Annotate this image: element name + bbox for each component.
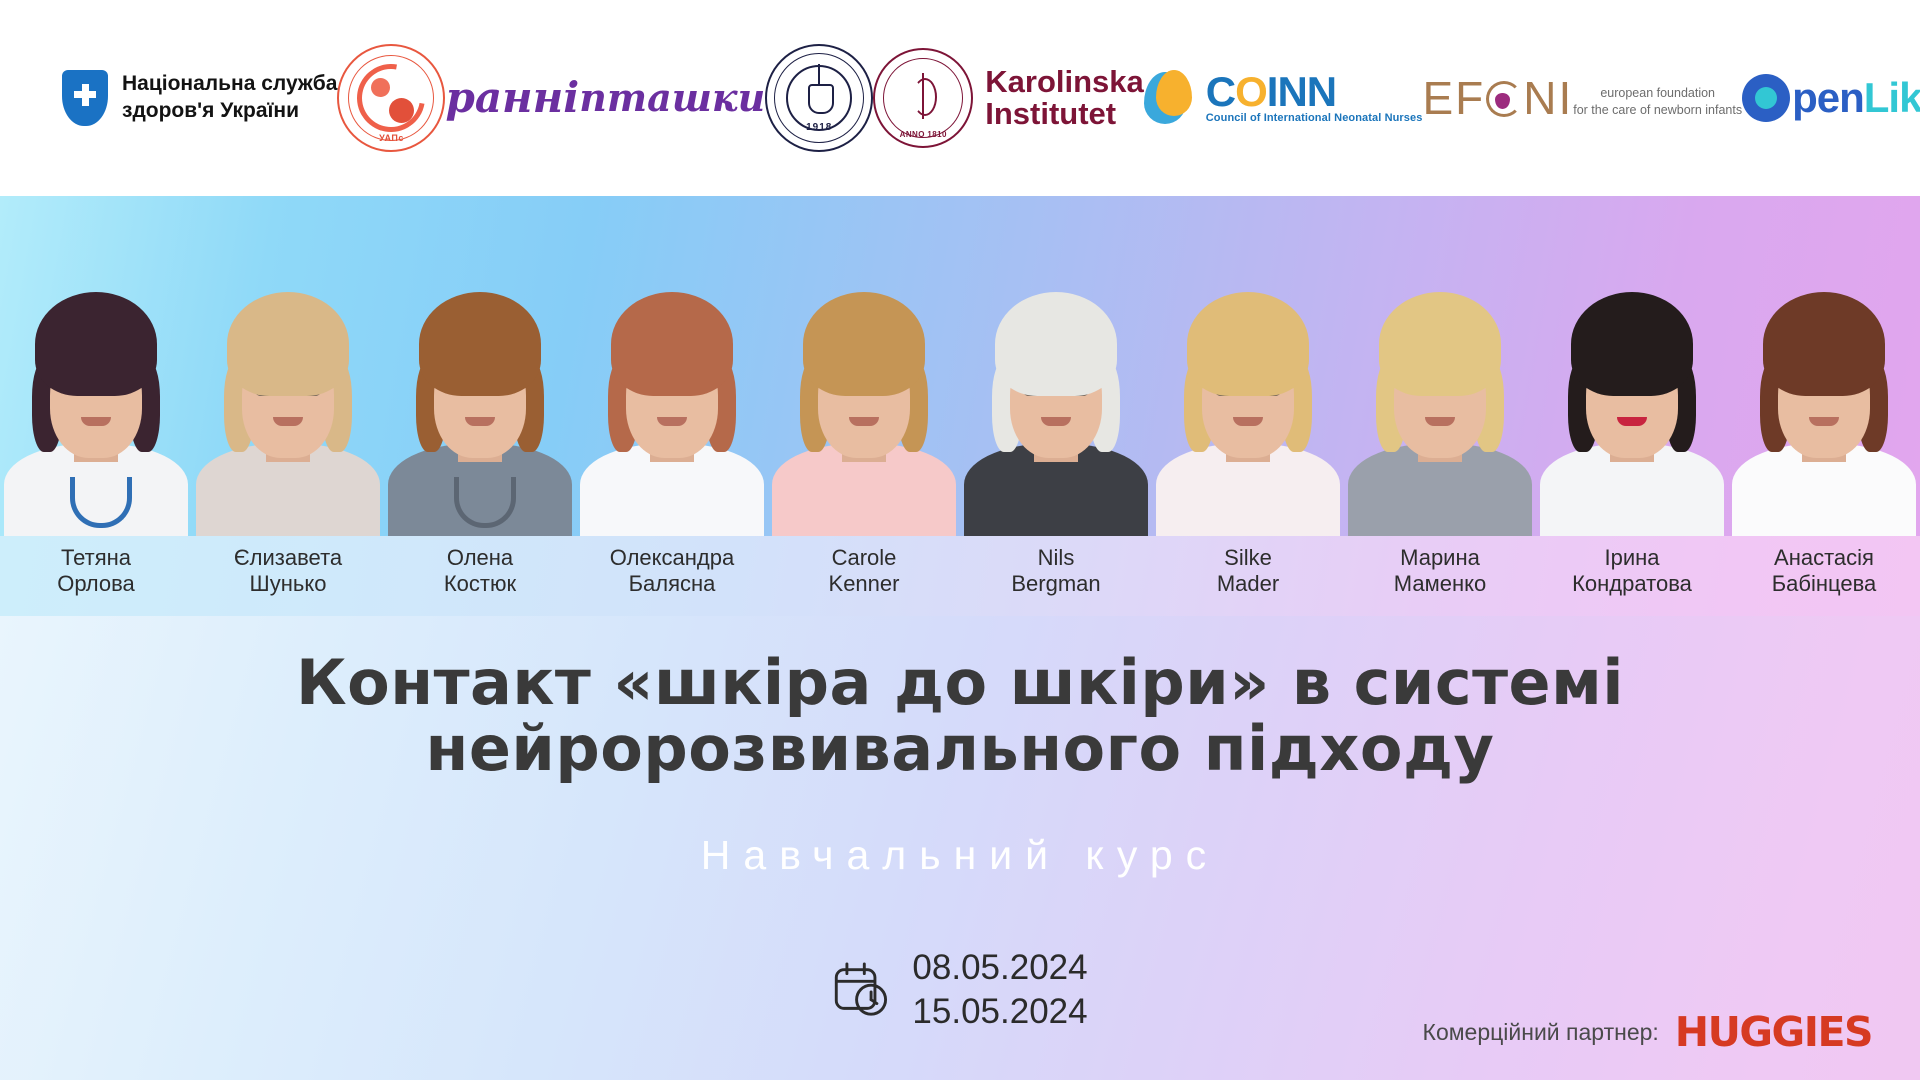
coinn-egg-gold bbox=[1156, 70, 1192, 116]
speaker-name: Олена Костюк bbox=[384, 536, 576, 616]
course-date-list: 08.05.2024 15.05.2024 bbox=[912, 946, 1087, 1034]
karolinska-anno-label: ANNO 1810 bbox=[875, 130, 971, 139]
speaker-photo bbox=[1152, 196, 1344, 536]
speaker-photo bbox=[1344, 196, 1536, 536]
speaker-name: Тетяна Орлова bbox=[0, 536, 192, 616]
logo-coinn[interactable]: COINN Council of International Neonatal … bbox=[1144, 70, 1423, 126]
speaker-name: Carole Kenner bbox=[768, 536, 960, 616]
logo-ranni-ptashky[interactable]: ранні пташки bbox=[445, 79, 765, 117]
efcni-c-baby-icon bbox=[1486, 81, 1522, 117]
coinn-globe-icon: O bbox=[1235, 68, 1267, 115]
speaker-first-name: Carole bbox=[768, 545, 960, 571]
speaker-name: Олександра Балясна bbox=[576, 536, 768, 616]
logo-nszu-line2: здоров'я України bbox=[122, 98, 337, 125]
page-subtitle: Навчальний курс bbox=[0, 832, 1920, 879]
efcni-wordmark: EFNI bbox=[1422, 75, 1573, 121]
efcni-prefix: EF bbox=[1422, 72, 1485, 124]
course-date-1: 08.05.2024 bbox=[912, 946, 1087, 990]
speaker-name: Марина Маменко bbox=[1344, 536, 1536, 616]
speaker-hair bbox=[1379, 292, 1501, 396]
speaker-hair bbox=[995, 292, 1117, 396]
speaker-last-name: Bergman bbox=[960, 571, 1152, 597]
speaker-name: Silke Mader bbox=[1152, 536, 1344, 616]
speaker-mouth bbox=[1425, 417, 1455, 426]
course-date-2: 15.05.2024 bbox=[912, 990, 1087, 1034]
openlikar-o-icon bbox=[1742, 74, 1790, 122]
karolinska-wordmark: Karolinska Institutet bbox=[985, 66, 1144, 130]
efcni-sub-line2: for the care of newborn infants bbox=[1573, 102, 1742, 119]
speaker-photo bbox=[0, 196, 192, 536]
speaker-last-name: Кондратова bbox=[1536, 571, 1728, 597]
huggies-logo[interactable]: HUGGIES bbox=[1675, 1012, 1872, 1053]
logo-efcni[interactable]: EFNI european foundation for the care of… bbox=[1422, 75, 1742, 121]
logo-uaps[interactable]: УАПс bbox=[337, 44, 445, 152]
logo-nszu-text: Національна служба здоров'я України bbox=[122, 71, 337, 125]
speaker-names-row: Тетяна Орлова Єлизавета Шунько Олена Кос… bbox=[0, 536, 1920, 616]
univ-trident-icon bbox=[818, 64, 820, 86]
speaker-first-name: Тетяна bbox=[0, 545, 192, 571]
openlikar-part2: Likar bbox=[1864, 74, 1920, 121]
calendar-clock-icon bbox=[832, 961, 890, 1019]
karolinska-line1: Karolinska bbox=[985, 66, 1144, 98]
coinn-eggs-icon bbox=[1144, 70, 1200, 126]
univ-bowl-icon bbox=[808, 84, 834, 114]
speaker-name: Анастасія Бабінцева bbox=[1728, 536, 1920, 616]
page-title: Контакт «шкіра до шкіри» в системі нейро… bbox=[0, 650, 1920, 781]
speaker-photo bbox=[384, 196, 576, 536]
efcni-sub-line1: european foundation bbox=[1573, 85, 1742, 102]
logo-openlikar[interactable]: penLikar bbox=[1742, 74, 1920, 122]
speaker-name: Nils Bergman bbox=[960, 536, 1152, 616]
speaker-mouth bbox=[1617, 417, 1647, 426]
page-title-line2: нейророзвивального підходу bbox=[0, 716, 1920, 782]
speaker-photo bbox=[768, 196, 960, 536]
coinn-wordmark: COINN bbox=[1206, 72, 1423, 112]
speaker-mouth bbox=[1041, 417, 1071, 426]
speaker-mouth bbox=[81, 417, 111, 426]
karolinska-line2: Institutet bbox=[985, 98, 1144, 130]
speaker-name: Ірина Кондратова bbox=[1536, 536, 1728, 616]
speaker-first-name: Nils bbox=[960, 545, 1152, 571]
speaker-hair bbox=[227, 292, 349, 396]
commercial-partner: Комерційний партнер: HUGGIES bbox=[1423, 1012, 1872, 1053]
logo-nszu[interactable]: Національна служба здоров'я України bbox=[62, 70, 337, 126]
speaker-photo bbox=[1728, 196, 1920, 536]
speaker-hair bbox=[1763, 292, 1885, 396]
uaps-swoosh-icon bbox=[344, 51, 439, 146]
karolinska-seal-icon: ANNO 1810 bbox=[873, 48, 973, 148]
course-info-panel: Контакт «шкіра до шкіри» в системі нейро… bbox=[0, 616, 1920, 1080]
speaker-last-name: Шунько bbox=[192, 571, 384, 597]
coinn-letters-inn: INN bbox=[1267, 68, 1336, 115]
speaker-first-name: Олена bbox=[384, 545, 576, 571]
speaker-mouth bbox=[657, 417, 687, 426]
speaker-last-name: Kenner bbox=[768, 571, 960, 597]
partner-logo-bar: Національна служба здоров'я України УАПс… bbox=[0, 0, 1920, 196]
speaker-hair bbox=[419, 292, 541, 396]
commercial-partner-label: Комерційний партнер: bbox=[1423, 1019, 1659, 1046]
efcni-subtitle: european foundation for the care of newb… bbox=[1573, 85, 1742, 119]
speaker-first-name: Єлизавета bbox=[192, 545, 384, 571]
univ-year-label: 1918 bbox=[767, 122, 871, 133]
speaker-photo bbox=[576, 196, 768, 536]
speaker-name: Єлизавета Шунько bbox=[192, 536, 384, 616]
speaker-last-name: Костюк bbox=[384, 571, 576, 597]
speaker-mouth bbox=[465, 417, 495, 426]
page-title-line1: Контакт «шкіра до шкіри» в системі bbox=[0, 650, 1920, 716]
coinn-subtitle: Council of International Neonatal Nurses bbox=[1206, 112, 1423, 124]
ranni-line2: пташки bbox=[579, 81, 765, 115]
coinn-text-block: COINN Council of International Neonatal … bbox=[1206, 72, 1423, 125]
speakers-photo-banner bbox=[0, 196, 1920, 536]
coinn-letter-c: C bbox=[1206, 68, 1235, 115]
speaker-mouth bbox=[1809, 417, 1839, 426]
speaker-last-name: Бабінцева bbox=[1728, 571, 1920, 597]
speaker-hair bbox=[1187, 292, 1309, 396]
speaker-mouth bbox=[273, 417, 303, 426]
shield-cross-icon bbox=[62, 70, 108, 126]
uaps-seal-label: УАПс bbox=[339, 133, 443, 143]
speaker-hair bbox=[803, 292, 925, 396]
efcni-suffix: NI bbox=[1523, 72, 1573, 124]
speaker-photo bbox=[960, 196, 1152, 536]
speaker-last-name: Балясна bbox=[576, 571, 768, 597]
speaker-first-name: Марина bbox=[1344, 545, 1536, 571]
speaker-last-name: Маменко bbox=[1344, 571, 1536, 597]
openlikar-wordmark: penLikar bbox=[1792, 77, 1920, 119]
speaker-first-name: Ірина bbox=[1536, 545, 1728, 571]
speaker-last-name: Mader bbox=[1152, 571, 1344, 597]
speaker-first-name: Silke bbox=[1152, 545, 1344, 571]
speaker-mouth bbox=[1233, 417, 1263, 426]
ranni-line1: ранні bbox=[445, 79, 579, 117]
openlikar-part1: pen bbox=[1792, 74, 1864, 121]
logo-karolinska[interactable]: ANNO 1810 Karolinska Institutet bbox=[873, 48, 1144, 148]
speaker-photo bbox=[1536, 196, 1728, 536]
course-dates: 08.05.2024 15.05.2024 bbox=[832, 946, 1087, 1034]
logo-shupyk-university[interactable]: 1918 bbox=[765, 44, 873, 152]
speaker-hair bbox=[1571, 292, 1693, 396]
speaker-first-name: Анастасія bbox=[1728, 545, 1920, 571]
speaker-last-name: Орлова bbox=[0, 571, 192, 597]
speaker-photo bbox=[192, 196, 384, 536]
speaker-hair bbox=[35, 292, 157, 396]
speaker-first-name: Олександра bbox=[576, 545, 768, 571]
speaker-hair bbox=[611, 292, 733, 396]
speaker-mouth bbox=[849, 417, 879, 426]
logo-nszu-line1: Національна служба bbox=[122, 71, 337, 98]
